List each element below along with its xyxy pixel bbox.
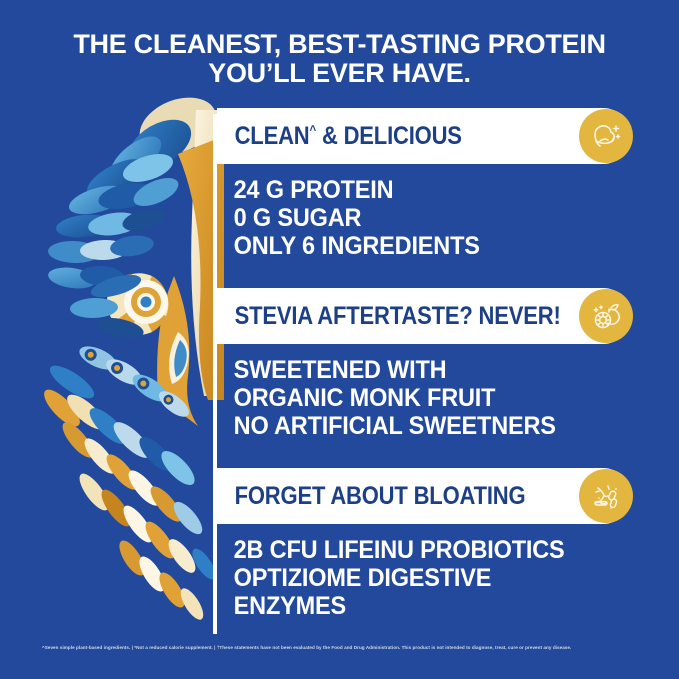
feature-title-1: CLEAN^ & DELICIOUS <box>217 122 462 151</box>
headline-line-2: YOU’LL EVER HAVE. <box>0 59 679 88</box>
feature-body-1-line-3: ONLY 6 INGREDIENTS <box>234 232 608 260</box>
probiotic-bacteria-icon <box>579 469 633 523</box>
feature-bar-forget-bloating: FORGET ABOUT BLOATING <box>217 468 631 524</box>
feature-panels: CLEAN^ & DELICIOUS 24 G PROTEIN 0 G SUGA… <box>213 108 633 634</box>
feature-body-2: SWEETENED WITH ORGANIC MONK FRUIT NO ART… <box>213 344 608 454</box>
feature-body-1-line-2: 0 G SUGAR <box>234 204 608 232</box>
feature-body-2-line-1: SWEETENED WITH <box>234 356 608 384</box>
feature-title-1-rest: & DELICIOUS <box>316 122 462 150</box>
feature-body-2-line-2: ORGANIC MONK FRUIT <box>234 384 608 412</box>
feature-body-2-line-3: NO ARTIFICIAL SWEETNERS <box>234 412 608 440</box>
feature-body-3: 2B CFU LIFEINU PROBIOTICS OPTIZIOME DIGE… <box>213 524 608 634</box>
feature-body-3-line-1: 2B CFU LIFEINU PROBIOTICS <box>234 536 608 564</box>
monk-fruit-icon <box>579 289 633 343</box>
feature-title-3: FORGET ABOUT BLOATING <box>217 482 525 511</box>
page-title: THE CLEANEST, BEST-TASTING PROTEIN YOU’L… <box>0 30 679 88</box>
flexed-bicep-icon <box>579 109 633 163</box>
feature-bar-clean-delicious: CLEAN^ & DELICIOUS <box>217 108 631 164</box>
feature-body-3-line-2: OPTIZIOME DIGESTIVE <box>234 564 608 592</box>
feature-body-1: 24 G PROTEIN 0 G SUGAR ONLY 6 INGREDIENT… <box>213 164 608 274</box>
feature-body-3-line-3: ENZYMES <box>234 592 608 620</box>
feature-bar-stevia-aftertaste: STEVIA AFTERTASTE? NEVER! <box>217 288 631 344</box>
legal-disclaimer: ^Seven simple plant-based ingredients. |… <box>42 645 642 650</box>
headline-line-1: THE CLEANEST, BEST-TASTING PROTEIN <box>73 29 605 59</box>
poster-canvas: THE CLEANEST, BEST-TASTING PROTEIN YOU’L… <box>0 0 679 679</box>
feature-title-2: STEVIA AFTERTASTE? NEVER! <box>217 302 561 331</box>
feature-body-1-line-1: 24 G PROTEIN <box>234 176 608 204</box>
feature-title-1-main: CLEAN <box>235 122 310 150</box>
